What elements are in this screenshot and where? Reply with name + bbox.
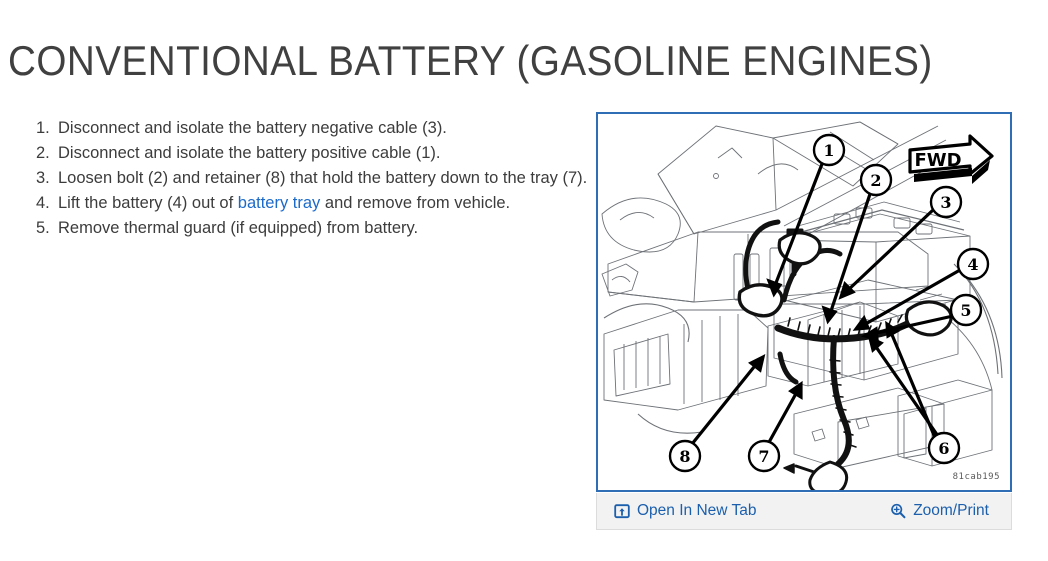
- svg-text:4: 4: [967, 255, 978, 274]
- callout-3: 3: [931, 187, 961, 217]
- callout-8: 8: [670, 441, 700, 471]
- svg-text:FWD: FWD: [914, 150, 961, 171]
- step-text-after: and remove from vehicle.: [320, 194, 510, 212]
- list-item: 4.Lift the battery (4) out of battery tr…: [36, 191, 606, 216]
- callout-7: 7: [749, 441, 779, 471]
- svg-text:5: 5: [960, 301, 971, 320]
- battery-tray-link[interactable]: battery tray: [238, 194, 321, 212]
- svg-text:2: 2: [870, 171, 881, 190]
- step-text: Disconnect and isolate the battery negat…: [58, 119, 447, 137]
- procedure-step-list: 1.Disconnect and isolate the battery neg…: [36, 116, 606, 241]
- step-text: Disconnect and isolate the battery posit…: [58, 144, 440, 162]
- zoom-print-button[interactable]: Zoom/Print: [889, 502, 989, 520]
- fwd-arrow-icon: FWD: [910, 136, 992, 184]
- list-item: 1.Disconnect and isolate the battery neg…: [36, 116, 606, 141]
- step-text: Loosen bolt (2) and retainer (8) that ho…: [58, 169, 587, 187]
- page-title: CONVENTIONAL BATTERY (GASOLINE ENGINES): [8, 36, 933, 86]
- callout-2: 2: [861, 165, 891, 195]
- svg-text:7: 7: [758, 447, 769, 466]
- magnifier-plus-icon: [889, 503, 906, 520]
- step-number: 5.: [36, 216, 56, 241]
- open-in-new-tab-label: Open In New Tab: [637, 502, 756, 520]
- callout-1: 1: [814, 135, 844, 165]
- list-item: 3.Loosen bolt (2) and retainer (8) that …: [36, 166, 606, 191]
- step-number: 3.: [36, 166, 56, 191]
- svg-text:6: 6: [938, 439, 949, 458]
- figure-image-frame[interactable]: 1 2 3 4 5: [596, 112, 1012, 492]
- list-item: 2.Disconnect and isolate the battery pos…: [36, 141, 606, 166]
- zoom-print-label: Zoom/Print: [913, 502, 989, 520]
- svg-text:3: 3: [940, 193, 951, 212]
- step-text: Remove thermal guard (if equipped) from …: [58, 219, 418, 237]
- svg-text:8: 8: [679, 447, 690, 466]
- callout-6: 6: [929, 433, 959, 463]
- open-in-new-tab-button[interactable]: Open In New Tab: [613, 502, 756, 520]
- external-link-icon: [613, 503, 630, 520]
- step-number: 1.: [36, 116, 56, 141]
- figure-toolbar: Open In New Tab Zoom/Print: [596, 493, 1012, 530]
- step-number: 4.: [36, 191, 56, 216]
- figure-panel: 1 2 3 4 5: [596, 112, 1012, 530]
- callout-5: 5: [951, 295, 981, 325]
- step-text: Lift the battery (4) out of: [58, 194, 238, 212]
- step-number: 2.: [36, 141, 56, 166]
- callout-4: 4: [958, 249, 988, 279]
- battery-location-diagram: 1 2 3 4 5: [598, 114, 1010, 490]
- list-item: 5.Remove thermal guard (if equipped) fro…: [36, 216, 606, 241]
- svg-text:1: 1: [823, 141, 834, 160]
- figure-watermark: 81cab195: [953, 472, 1000, 482]
